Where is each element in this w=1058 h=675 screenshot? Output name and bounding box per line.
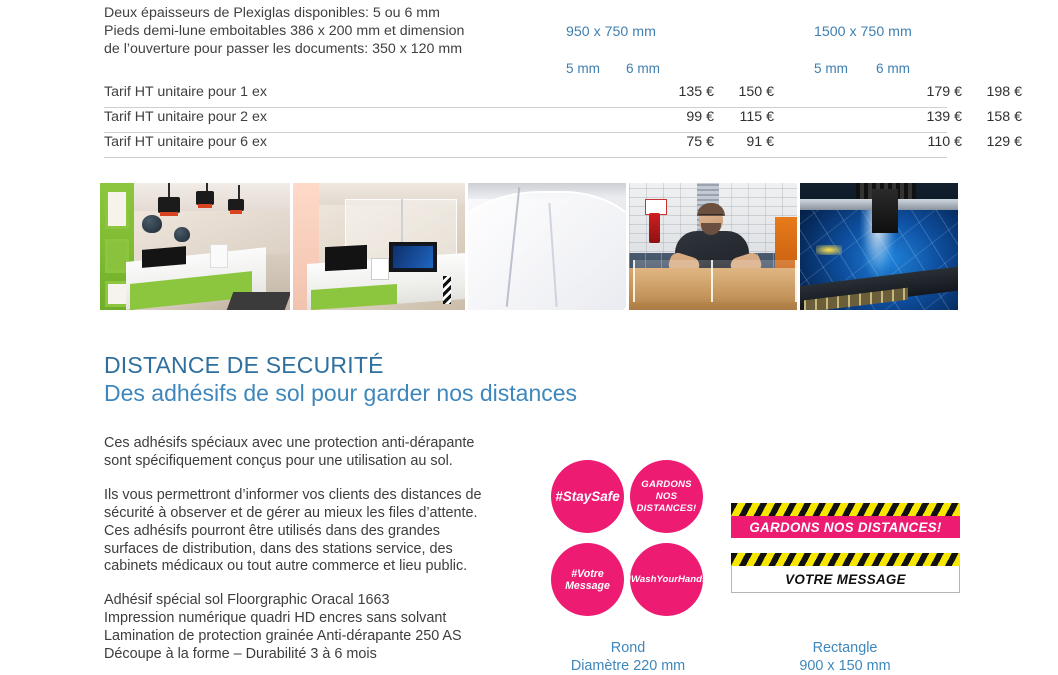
photo-white-plexiglass-closeup bbox=[468, 183, 626, 310]
photo-cnc-cutting-blue-plexiglass bbox=[800, 183, 958, 310]
price-row-label: Tarif HT unitaire pour 2 ex bbox=[104, 109, 267, 125]
price-row-label: Tarif HT unitaire pour 6 ex bbox=[104, 134, 267, 150]
thickness-header-6mm-b: 6 mm bbox=[876, 61, 910, 76]
price-table-section: Deux épaisseurs de Plexiglas disponibles… bbox=[0, 0, 1058, 168]
price-cell: 115 € bbox=[676, 109, 774, 125]
page-title: DISTANCE DE SECURITÉ bbox=[104, 352, 577, 379]
hazard-stripe-icon bbox=[731, 503, 960, 516]
price-cell: 150 € bbox=[676, 84, 774, 100]
section-heading: DISTANCE DE SECURITÉ Des adhésifs de sol… bbox=[104, 352, 577, 408]
photo-strip bbox=[100, 183, 958, 310]
price-cell: 158 € bbox=[924, 109, 1022, 125]
plexiglass-spec-text: Deux épaisseurs de Plexiglas disponibles… bbox=[104, 4, 524, 59]
circle-sticker: GARDONS NOS DISTANCES! bbox=[630, 460, 703, 533]
shape-caption-rectangle: Rectangle 900 x 150 mm bbox=[755, 639, 935, 675]
photo-man-at-desk-with-screen bbox=[629, 183, 797, 310]
price-row-label: Tarif HT unitaire pour 1 ex bbox=[104, 84, 267, 100]
price-cell: 91 € bbox=[676, 134, 774, 150]
thickness-header-5mm-b: 5 mm bbox=[814, 61, 848, 76]
price-cell: 129 € bbox=[924, 134, 1022, 150]
rectangle-sticker-label: VOTRE MESSAGE bbox=[731, 566, 960, 593]
photo-reception-green-shelving bbox=[100, 183, 290, 310]
price-group-header-1500x750: 1500 x 750 mm bbox=[814, 24, 912, 40]
circle-sticker: #Votre Message bbox=[551, 543, 624, 616]
shape-caption-round: Rond Diamètre 220 mm bbox=[538, 639, 718, 675]
table-row: Tarif HT unitaire pour 6 ex 75 € 91 € 11… bbox=[104, 132, 947, 158]
rectangle-sticker-label: GARDONS NOS DISTANCES! bbox=[731, 516, 960, 538]
thickness-header-6mm-a: 6 mm bbox=[626, 61, 660, 76]
rectangle-sticker-samples: GARDONS NOS DISTANCES! VOTRE MESSAGE bbox=[731, 503, 960, 587]
circle-sticker: #WashYourHands bbox=[630, 543, 703, 616]
copy-paragraph: Adhésif spécial sol Floorgraphic Oracal … bbox=[104, 592, 534, 664]
copy-paragraph: Ces adhésifs spéciaux avec une protectio… bbox=[104, 435, 534, 471]
description-copy: Ces adhésifs spéciaux avec une protectio… bbox=[104, 435, 534, 664]
copy-paragraph: Ils vous permettront d’informer vos clie… bbox=[104, 487, 534, 577]
table-row: Tarif HT unitaire pour 1 ex 135 € 150 € … bbox=[104, 82, 947, 108]
page-subtitle: Des adhésifs de sol pour garder nos dist… bbox=[104, 379, 577, 408]
rectangle-sticker: GARDONS NOS DISTANCES! bbox=[731, 503, 960, 538]
price-cell: 198 € bbox=[924, 84, 1022, 100]
hazard-stripe-icon bbox=[731, 553, 960, 566]
circle-sticker: #StaySafe bbox=[551, 460, 624, 533]
thickness-header-5mm-a: 5 mm bbox=[566, 61, 600, 76]
photo-reception-plexiglass-screens bbox=[293, 183, 465, 310]
price-group-header-950x750: 950 x 750 mm bbox=[566, 24, 656, 40]
rectangle-sticker: VOTRE MESSAGE bbox=[731, 553, 960, 593]
table-row: Tarif HT unitaire pour 2 ex 99 € 115 € 1… bbox=[104, 107, 947, 133]
round-sticker-samples: #StaySafe GARDONS NOS DISTANCES! #Votre … bbox=[551, 460, 703, 610]
